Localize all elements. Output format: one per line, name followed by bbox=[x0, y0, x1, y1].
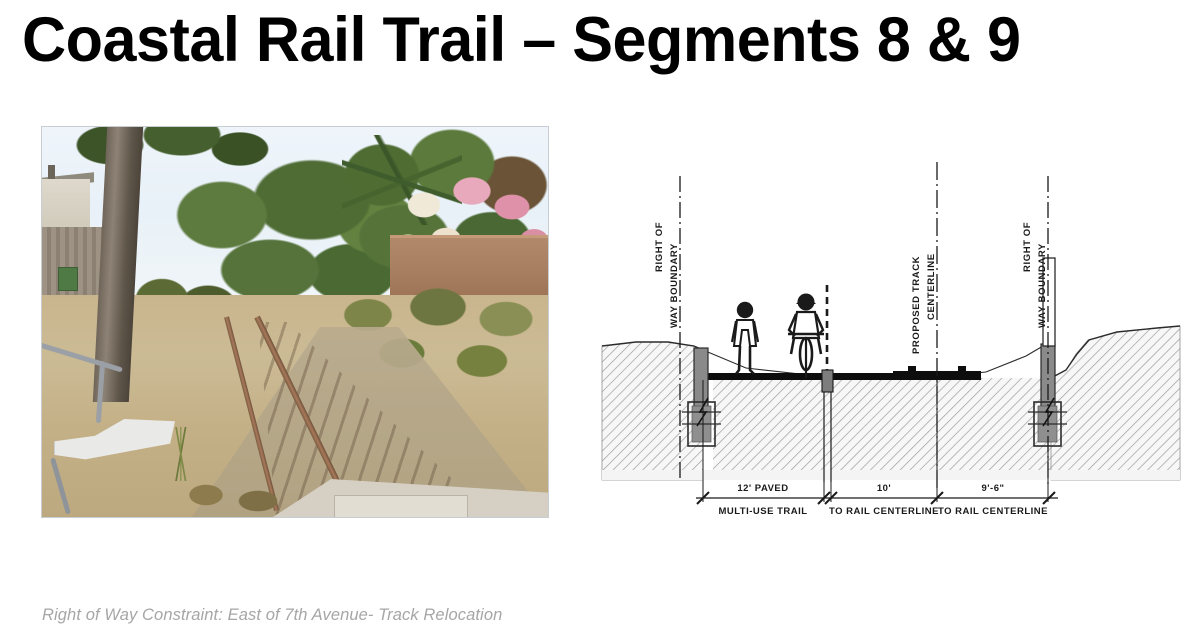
dim-trail-width-value: 12' PAVED bbox=[737, 483, 788, 494]
cross-section-diagram: RIGHT OF WAY BOUNDARY PROPOSED TRACK CEN… bbox=[596, 140, 1186, 530]
dim-trail-to-rail-value: 10' bbox=[877, 483, 891, 494]
row-right-label-line2: WAY BOUNDARY bbox=[1037, 243, 1048, 328]
photo-tree-canopy bbox=[62, 127, 272, 197]
page-title: Coastal Rail Trail – Segments 8 & 9 bbox=[22, 2, 1157, 80]
photo-concrete-plate bbox=[334, 495, 468, 517]
photo-chimney bbox=[48, 165, 55, 179]
dim-rail-to-row-value: 9'-6" bbox=[982, 483, 1005, 494]
ground-right-embankment bbox=[1051, 326, 1180, 480]
pedestrian-figure bbox=[732, 302, 758, 374]
dim-rail-to-row-sub: TO RAIL CENTERLINE bbox=[938, 506, 1048, 517]
cyclist-figure bbox=[788, 294, 824, 379]
photo-weed-cluster-2 bbox=[182, 467, 302, 517]
row-left-label-line1: RIGHT OF bbox=[654, 222, 665, 272]
cross-section-svg: RIGHT OF WAY BOUNDARY PROPOSED TRACK CEN… bbox=[596, 140, 1186, 530]
ground-tint-band bbox=[602, 470, 1180, 480]
dim-trail-to-rail-sub: TO RAIL CENTERLINE bbox=[829, 506, 939, 517]
slide-caption: Right of Way Constraint: East of 7th Ave… bbox=[42, 606, 502, 625]
photo-green-bin bbox=[58, 267, 78, 291]
track-cl-label-line2: CENTERLINE bbox=[926, 253, 937, 320]
dim-trail-width-sub: MULTI-USE TRAIL bbox=[718, 506, 807, 517]
ground-subgrade bbox=[713, 378, 1051, 480]
track-cl-label-line1: PROPOSED TRACK bbox=[911, 256, 922, 354]
row-right-label-line1: RIGHT OF bbox=[1022, 222, 1033, 272]
row-left-label-line2: WAY BOUNDARY bbox=[669, 243, 680, 328]
site-photo bbox=[42, 127, 548, 517]
